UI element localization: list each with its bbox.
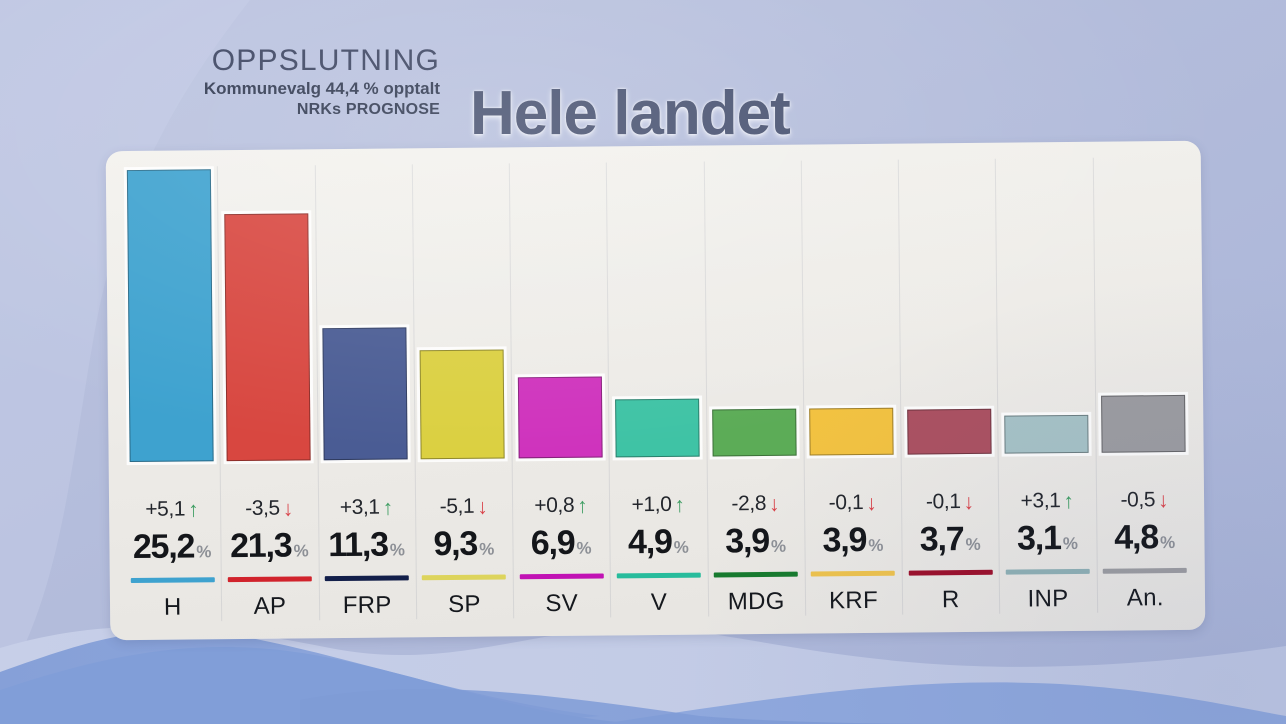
change-value: +0,8↑: [512, 492, 610, 519]
percent-value: 3,1%: [999, 518, 1097, 559]
bar-area: [120, 161, 220, 462]
bar-area: [509, 157, 609, 458]
bar: [712, 409, 796, 457]
bar-area: [412, 158, 512, 459]
change-label: +0,8: [534, 494, 574, 518]
party-color-rule: [228, 576, 312, 582]
change-label: +3,1: [1020, 489, 1060, 513]
party-color-rule: [422, 574, 506, 580]
party-name: R: [902, 586, 1000, 615]
party-name: INP: [999, 585, 1097, 614]
change-label: +3,1: [340, 496, 380, 520]
percent-value: 3,9%: [707, 521, 805, 562]
party-color-rule: [519, 574, 603, 580]
arrow-down-icon: ↓: [866, 492, 876, 513]
bar-labels: -0,5↓4,8%An.: [1096, 487, 1194, 613]
percent-symbol: %: [868, 526, 884, 566]
bar-labels: +0,8↑6,9%SV: [512, 492, 610, 618]
party-color-rule: [811, 571, 895, 577]
percent-value: 3,9%: [804, 520, 902, 561]
change-value: -0,5↓: [1096, 487, 1194, 514]
bar-column: +5,1↑25,2%H: [120, 150, 222, 640]
party-color-rule: [908, 570, 992, 576]
party-color-rule: [130, 577, 214, 583]
arrow-up-icon: ↑: [1063, 490, 1073, 511]
change-value: +3,1↑: [318, 494, 416, 521]
percent-value: 3,7%: [901, 519, 999, 560]
change-label: -5,1: [440, 495, 475, 519]
change-value: -0,1↓: [901, 489, 999, 516]
bar: [224, 213, 310, 461]
party-name: SV: [513, 589, 611, 618]
bar-area: [314, 159, 414, 460]
percent-number: 4,8: [1114, 517, 1158, 557]
arrow-up-icon: ↑: [674, 494, 684, 515]
bar: [810, 408, 894, 456]
percent-value: 4,8%: [1096, 517, 1194, 558]
percent-number: 21,3: [230, 526, 292, 567]
bar-column: -3,5↓21,3%AP: [217, 149, 319, 639]
percent-number: 3,1: [1017, 518, 1061, 558]
bar-area: [703, 156, 803, 457]
party-name: FRP: [318, 591, 416, 620]
bar-column: +3,1↑11,3%FRP: [314, 148, 416, 638]
bar: [518, 376, 603, 458]
bar-column: -2,8↓3,9%MDG: [703, 145, 805, 635]
percent-number: 3,9: [822, 520, 866, 560]
bar-area: [1092, 152, 1192, 453]
change-label: -0,1: [926, 490, 961, 514]
party-name: V: [610, 589, 708, 618]
party-name: KRF: [805, 587, 903, 616]
percent-value: 6,9%: [512, 522, 610, 563]
bar-area: [801, 155, 901, 456]
header-subtitle: Kommunevalg 44,4 % opptalt: [150, 78, 440, 99]
percent-symbol: %: [1160, 523, 1176, 563]
percent-value: 9,3%: [415, 523, 513, 564]
percent-number: 4,9: [628, 522, 672, 562]
bar: [126, 169, 213, 462]
percent-number: 3,9: [725, 521, 769, 561]
bar-area: [217, 160, 317, 461]
party-name: SP: [416, 590, 514, 619]
arrow-down-icon: ↓: [283, 498, 293, 519]
arrow-down-icon: ↓: [769, 493, 779, 514]
bar: [1101, 395, 1186, 453]
percent-symbol: %: [965, 525, 981, 565]
header-source: NRKs PROGNOSE: [150, 100, 440, 120]
arrow-down-icon: ↓: [477, 496, 487, 517]
change-value: +3,1↑: [998, 488, 1096, 515]
bar-labels: -5,1↓9,3%SP: [415, 493, 513, 619]
percent-number: 9,3: [433, 524, 477, 564]
change-label: +5,1: [145, 498, 185, 522]
bar-labels: -3,5↓21,3%AP: [220, 495, 318, 621]
party-name: AP: [221, 592, 319, 621]
percent-symbol: %: [576, 529, 592, 569]
change-value: +1,0↑: [609, 492, 707, 519]
bar: [323, 327, 408, 460]
party-color-rule: [617, 573, 701, 579]
percent-symbol: %: [479, 530, 495, 570]
bar-labels: +3,1↑11,3%FRP: [318, 494, 416, 620]
change-value: -5,1↓: [415, 493, 513, 520]
arrow-up-icon: ↑: [188, 499, 198, 520]
bar-column: -0,1↓3,9%KRF: [801, 144, 903, 634]
percent-value: 25,2%: [123, 526, 221, 567]
percent-symbol: %: [390, 530, 406, 570]
party-name: An.: [1097, 584, 1195, 613]
bar-labels: -2,8↓3,9%MDG: [707, 491, 805, 617]
bar: [420, 350, 505, 460]
party-color-rule: [714, 572, 798, 578]
percent-symbol: %: [1063, 524, 1079, 564]
change-value: -0,1↓: [804, 490, 902, 517]
party-color-rule: [1006, 569, 1090, 575]
header-kicker: OPPSLUTNING: [150, 46, 440, 77]
change-label: -0,5: [1120, 488, 1155, 512]
bar-area: [995, 153, 1095, 454]
page-title: Hele landet: [470, 78, 790, 149]
percent-symbol: %: [196, 532, 212, 572]
percent-number: 25,2: [133, 526, 195, 567]
bar: [1004, 415, 1088, 453]
percent-symbol: %: [293, 531, 309, 571]
bar-labels: -0,1↓3,9%KRF: [804, 490, 902, 616]
bar-labels: -0,1↓3,7%R: [901, 489, 999, 615]
arrow-up-icon: ↑: [577, 495, 587, 516]
percent-symbol: %: [674, 528, 690, 568]
bar-area: [606, 157, 706, 458]
change-label: +1,0: [631, 493, 671, 517]
arrow-down-icon: ↓: [1158, 490, 1168, 511]
party-color-rule: [1103, 568, 1187, 574]
arrow-up-icon: ↑: [383, 497, 393, 518]
bar-column: +0,8↑6,9%SV: [509, 146, 611, 636]
percent-number: 11,3: [328, 525, 388, 566]
bar-area: [898, 154, 998, 455]
bar-column: -5,1↓9,3%SP: [411, 147, 513, 637]
bar-labels: +5,1↑25,2%H: [123, 496, 221, 622]
percent-number: 6,9: [531, 523, 575, 563]
party-name: H: [124, 593, 222, 622]
bar: [907, 409, 991, 454]
bar-labels: +1,0↑4,9%V: [609, 492, 707, 618]
change-label: -0,1: [829, 491, 864, 515]
percent-number: 3,7: [920, 519, 964, 559]
party-color-rule: [325, 575, 409, 581]
change-value: -2,8↓: [707, 491, 805, 518]
bar-column: +3,1↑3,1%INP: [995, 142, 1097, 632]
bar-chart: +5,1↑25,2%H-3,5↓21,3%AP+3,1↑11,3%FRP-5,1…: [106, 141, 1206, 640]
bar-column: -0,5↓4,8%An.: [1092, 141, 1194, 631]
change-value: -3,5↓: [220, 495, 318, 522]
bar: [615, 398, 700, 457]
change-label: -3,5: [245, 497, 280, 521]
percent-value: 4,9%: [610, 522, 708, 563]
bar-column: +1,0↑4,9%V: [606, 146, 708, 636]
bar-column: -0,1↓3,7%R: [898, 143, 1000, 633]
percent-value: 21,3%: [221, 525, 319, 566]
percent-value: 11,3%: [318, 524, 416, 565]
header-block: OPPSLUTNING Kommunevalg 44,4 % opptalt N…: [150, 46, 440, 120]
change-label: -2,8: [731, 492, 766, 516]
party-name: MDG: [707, 588, 805, 617]
change-value: +5,1↑: [123, 496, 221, 523]
bar-columns: +5,1↑25,2%H-3,5↓21,3%AP+3,1↑11,3%FRP-5,1…: [120, 141, 1195, 640]
bar-labels: +3,1↑3,1%INP: [998, 488, 1096, 614]
percent-symbol: %: [771, 527, 787, 567]
arrow-down-icon: ↓: [963, 491, 973, 512]
